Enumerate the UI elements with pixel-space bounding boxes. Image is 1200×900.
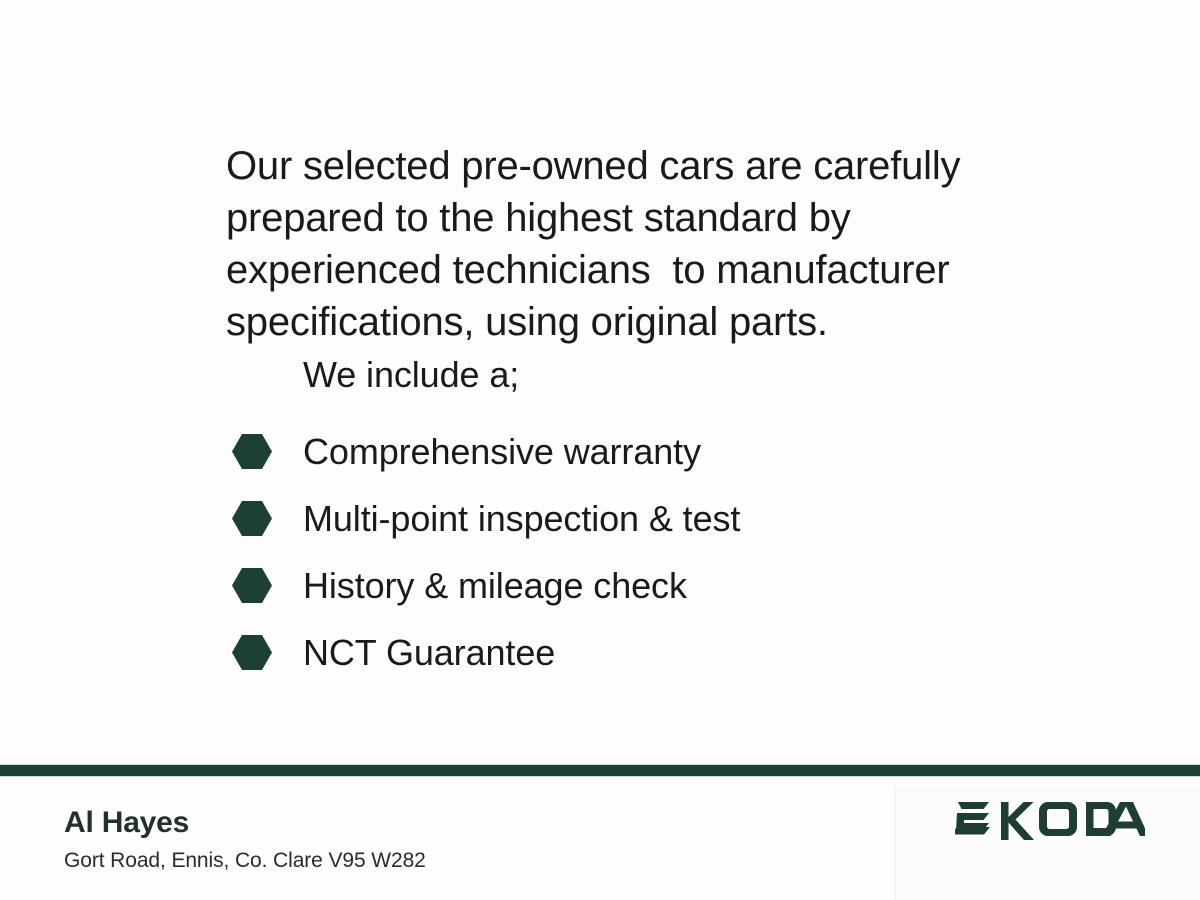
- hexagon-icon: [232, 433, 272, 471]
- dealer-name: Al Hayes: [64, 805, 426, 841]
- dealer-block: Al Hayes Gort Road, Ennis, Co. Clare V95…: [64, 805, 426, 874]
- hexagon-icon: [232, 500, 272, 538]
- hexagon-icon: [232, 634, 272, 672]
- promo-slide: Our selected pre-owned cars are carefull…: [0, 0, 1200, 900]
- include-intro-label: We include a;: [303, 352, 519, 398]
- headline-text: Our selected pre-owned cars are carefull…: [226, 140, 1016, 348]
- benefits-list: Comprehensive warranty Multi-point inspe…: [232, 418, 1032, 686]
- list-item-label: Multi-point inspection & test: [303, 498, 740, 540]
- list-item-label: History & mileage check: [303, 565, 687, 607]
- list-item: Comprehensive warranty: [232, 418, 1032, 485]
- hexagon-icon: [232, 567, 272, 605]
- divider: [0, 764, 1200, 777]
- list-item: NCT Guarantee: [232, 619, 1032, 686]
- list-item: History & mileage check: [232, 552, 1032, 619]
- list-item-label: NCT Guarantee: [303, 632, 555, 674]
- skoda-logo-icon: [955, 798, 1145, 840]
- list-item: Multi-point inspection & test: [232, 485, 1032, 552]
- list-item-label: Comprehensive warranty: [303, 431, 701, 473]
- dealer-address: Gort Road, Ennis, Co. Clare V95 W282: [64, 848, 426, 874]
